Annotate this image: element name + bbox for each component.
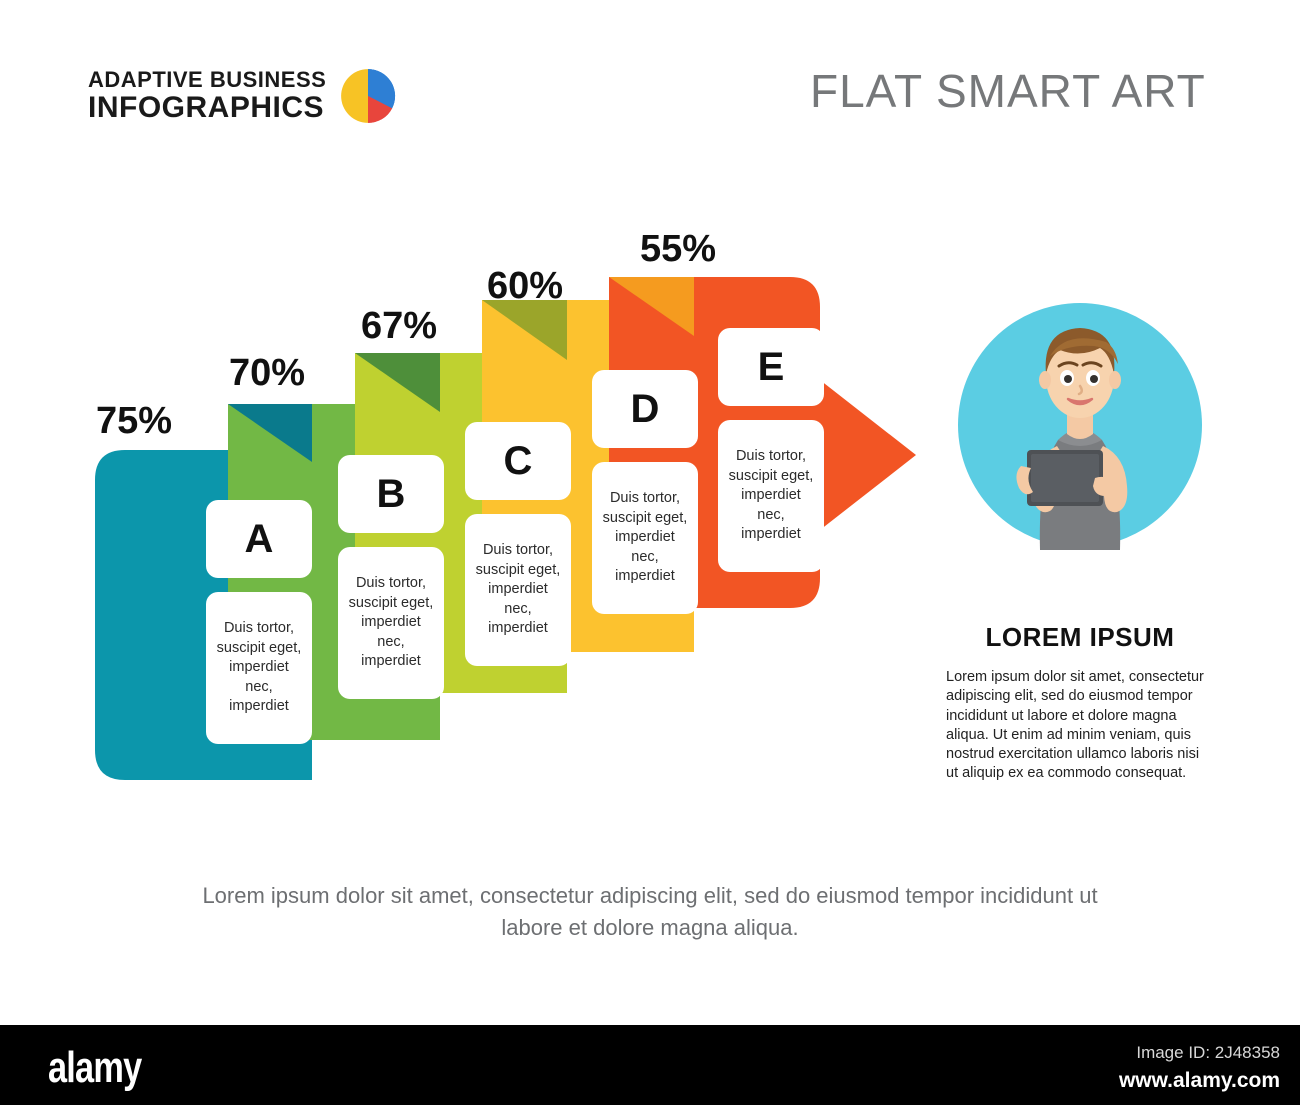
alamy-logo: alamy	[48, 1043, 141, 1093]
alamy-url[interactable]: www.alamy.com	[1119, 1069, 1280, 1093]
step-body-card-e: Duis tortor,suscipit eget,imperdiet nec,…	[718, 420, 824, 572]
step-body-card-c: Duis tortor,suscipit eget,imperdiet nec,…	[465, 514, 571, 666]
step-letter-card-c: C	[465, 422, 571, 500]
image-id-label: Image ID: 2J48358	[1136, 1043, 1280, 1063]
step-letter-card-a: A	[206, 500, 312, 578]
slide-canvas: ADAPTIVE BUSINESS INFOGRAPHICS FLAT SMAR…	[0, 0, 1300, 1025]
percent-label-b: 70%	[229, 352, 305, 395]
slide-caption: Lorem ipsum dolor sit amet, consectetur …	[190, 880, 1110, 944]
step-letter-card-b: B	[338, 455, 444, 533]
step-body-card-b: Duis tortor,suscipit eget,imperdiet nec,…	[338, 547, 444, 699]
percent-label-a: 75%	[96, 400, 172, 443]
businesswoman-avatar-icon	[955, 300, 1205, 550]
alamy-watermark-bar: alamy Image ID: 2J48358 www.alamy.com	[0, 1025, 1300, 1105]
step-body-card-d: Duis tortor,suscipit eget,imperdiet nec,…	[592, 462, 698, 614]
percent-label-e: 55%	[640, 228, 716, 271]
step-letter-card-e: E	[718, 328, 824, 406]
percent-label-d: 60%	[487, 265, 563, 308]
percent-label-c: 67%	[361, 305, 437, 348]
side-panel-body: Lorem ipsum dolor sit amet, consectetur …	[946, 668, 1214, 784]
side-panel-title: LOREM IPSUM	[940, 622, 1220, 653]
step-letter-card-d: D	[592, 370, 698, 448]
step-body-card-a: Duis tortor,suscipit eget,imperdiet nec,…	[206, 592, 312, 744]
